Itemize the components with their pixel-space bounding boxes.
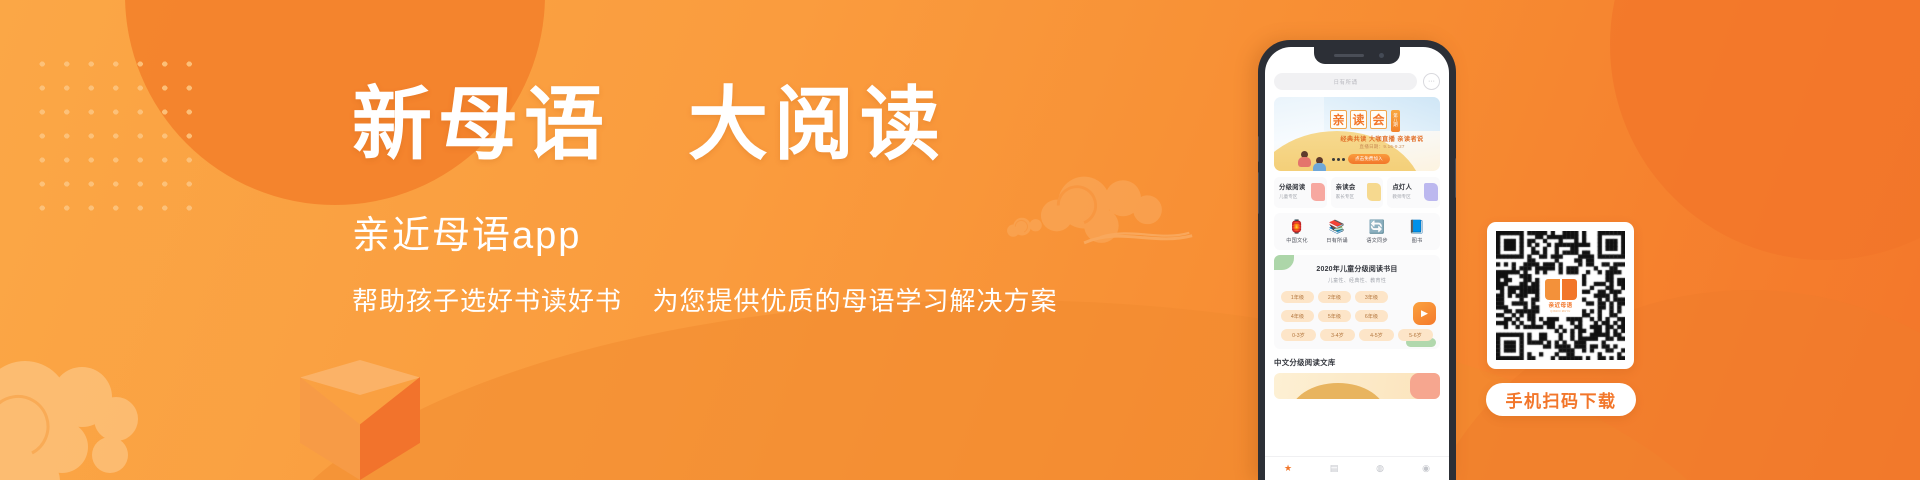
phone-notch: [1314, 47, 1400, 64]
copy-block: 新母语 大阅读 亲近母语app 帮助孩子选好书读好书 为您提供优质的母语学习解决…: [352, 86, 1052, 319]
booklist-subtitle: 儿童性、经典性、教育性: [1281, 277, 1433, 284]
book-logo-icon: [1545, 279, 1577, 300]
hero-title: 亲 读 会 第八期: [1330, 110, 1400, 132]
sync-icon: 🔄: [1357, 220, 1397, 233]
booklist-section: 2020年儿童分级阅读书目 儿童性、经典性、教育性 1年级 2年级 3年级 4年…: [1274, 255, 1440, 349]
cube-decoration: [300, 360, 420, 480]
phone-button-volume: [1258, 172, 1259, 214]
grade-chip-row: 4年级 5年级 6年级: [1281, 310, 1433, 322]
play-icon: ▶: [1421, 308, 1428, 319]
dot-grid-pattern: [30, 52, 200, 212]
grade-chip[interactable]: 4年级: [1281, 310, 1314, 322]
brand-logo: 亲近母语 QINJIN MUYU: [1541, 276, 1581, 316]
grade-chip[interactable]: 5年级: [1318, 310, 1351, 322]
headline-part-1: 新母语: [352, 82, 610, 170]
brand-name: 亲近母语: [1549, 301, 1573, 309]
headline-part-2: 大阅读: [688, 82, 946, 170]
grade-chip[interactable]: 3年级: [1355, 291, 1388, 303]
age-chip[interactable]: 5-6岁: [1398, 329, 1433, 341]
quick-icon-row: 🏮 中国文化 📚 日有所诵 🔄 语文同步 📘 图书: [1274, 213, 1440, 250]
app-tab-bar: ★ ▤ ◍ ◉: [1265, 456, 1449, 480]
brand-name-en: QINJIN MUYU: [1550, 310, 1570, 313]
hero-subtitle: 经典共读 大咖直播 亲读者说: [1324, 134, 1440, 143]
books-icon: 📚: [1317, 220, 1357, 233]
play-video-button[interactable]: ▶: [1413, 302, 1436, 325]
background-hill-right: [1400, 290, 1920, 480]
phone-button-silent: [1258, 136, 1259, 162]
hero-date: 直播日期：9.16-9.27: [1324, 144, 1440, 150]
search-input[interactable]: 日有所诵: [1274, 73, 1417, 90]
hero-cta-button[interactable]: 点击免费加入: [1348, 154, 1390, 164]
quick-icon-item[interactable]: 📚 日有所诵: [1317, 220, 1357, 244]
tagline-part-1: 帮助孩子选好书读好书: [352, 286, 622, 316]
quick-icon-item[interactable]: 🔄 语文同步: [1357, 220, 1397, 244]
promo-banner: 新母语 大阅读 亲近母语app 帮助孩子选好书读好书 为您提供优质的母语学习解决…: [0, 0, 1920, 480]
quick-icon-item[interactable]: 🏮 中国文化: [1277, 220, 1317, 244]
qr-code-panel: 亲近母语 QINJIN MUYU: [1487, 222, 1634, 369]
hero-dots: [1332, 158, 1345, 161]
search-placeholder: 日有所诵: [1333, 78, 1357, 86]
tagline: 帮助孩子选好书读好书 为您提供优质的母语学习解决方案: [352, 285, 1052, 319]
tab-library[interactable]: ▤: [1311, 463, 1357, 474]
qr-code: 亲近母语 QINJIN MUYU: [1496, 231, 1625, 360]
library-section-title: 中文分级阅读文库: [1274, 357, 1440, 368]
phone-screen: 日有所诵 ···: [1265, 47, 1449, 480]
app-search-row: 日有所诵 ···: [1274, 73, 1440, 90]
app-hero-banner[interactable]: 亲 读 会 第八期 经典共读 大咖直播 亲读者说 直播日期：9.16-9.27 …: [1274, 97, 1440, 171]
age-chip[interactable]: 3-4岁: [1320, 329, 1355, 341]
grade-chip[interactable]: 6年级: [1355, 310, 1388, 322]
message-icon[interactable]: ···: [1423, 73, 1440, 90]
page-title: 新母语 大阅读: [352, 86, 1052, 168]
booklist-title: 2020年儿童分级阅读书目: [1281, 264, 1433, 274]
library-card[interactable]: [1274, 373, 1440, 399]
book-icon: 📘: [1397, 220, 1437, 233]
category-card-row: 分级阅读 儿童专区 亲读会 家长专区 点灯人 教师专区: [1274, 177, 1440, 208]
grade-chip-row: 1年级 2年级 3年级: [1281, 291, 1433, 303]
cloud-motif-bottom-left: [0, 335, 200, 480]
grade-chip[interactable]: 2年级: [1318, 291, 1351, 303]
tagline-part-2: 为您提供优质的母语学习解决方案: [652, 286, 1057, 316]
tab-discover[interactable]: ◍: [1357, 463, 1403, 474]
download-button[interactable]: 手机扫码下载: [1486, 383, 1636, 416]
tab-home[interactable]: ★: [1265, 463, 1311, 474]
age-chip[interactable]: 4-5岁: [1359, 329, 1394, 341]
category-card[interactable]: 亲读会 家长专区: [1331, 177, 1384, 208]
category-card[interactable]: 分级阅读 儿童专区: [1274, 177, 1327, 208]
quick-icon-item[interactable]: 📘 图书: [1397, 220, 1437, 244]
phone-mockup: 日有所诵 ···: [1258, 40, 1456, 480]
app-name-subtitle: 亲近母语app: [352, 214, 1052, 260]
phone-button-power: [1455, 158, 1456, 198]
lantern-icon: 🏮: [1277, 220, 1317, 233]
age-chip[interactable]: 0-3岁: [1281, 329, 1316, 341]
grade-chip[interactable]: 1年级: [1281, 291, 1314, 303]
background-circle-right: [1610, 0, 1920, 260]
hero-badge: 第八期: [1391, 110, 1400, 132]
age-chip-row: 0-3岁 3-4岁 4-5岁 5-6岁: [1281, 329, 1433, 341]
tab-profile[interactable]: ◉: [1403, 463, 1449, 474]
category-card[interactable]: 点灯人 教师专区: [1387, 177, 1440, 208]
